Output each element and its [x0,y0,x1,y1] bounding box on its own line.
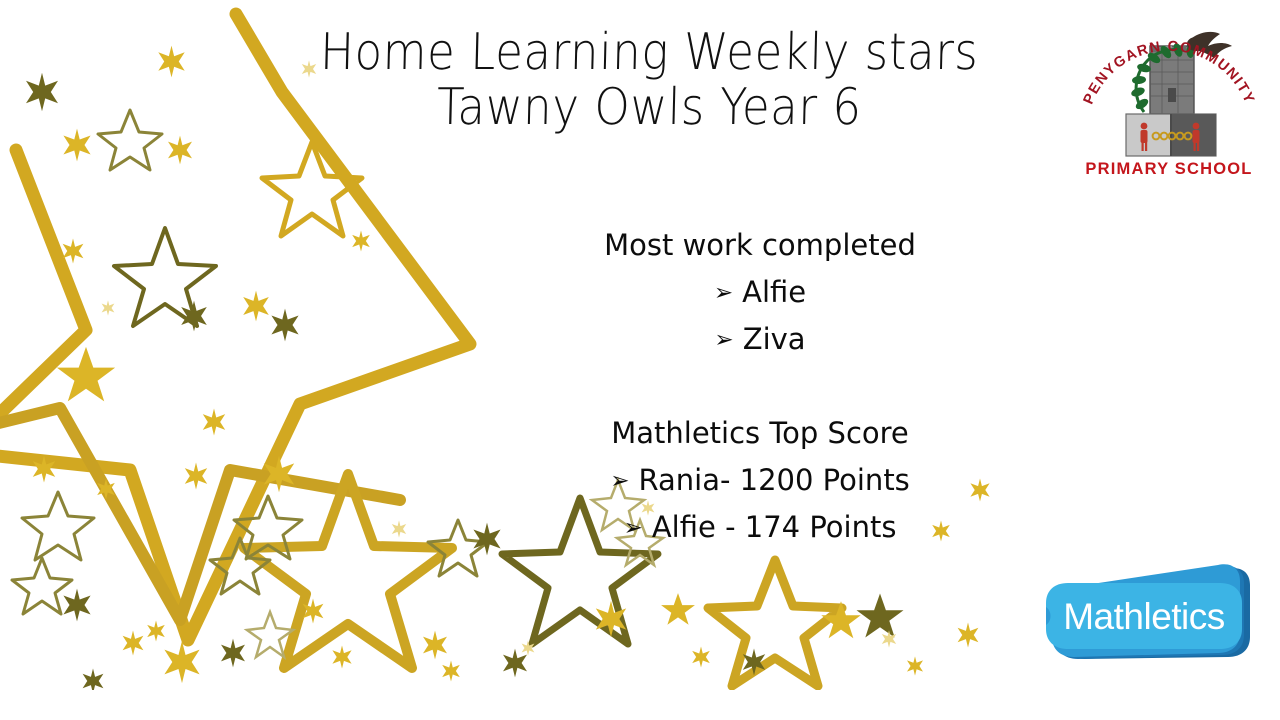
list-item: ➢Ziva [520,316,1000,363]
title-line-2: Tawny Owls Year 6 [249,77,1050,138]
medium-outline-star-a [114,228,216,326]
medium-outline-star-h [12,558,72,614]
list-item: ➢Alfie [520,269,1000,316]
section-heading-mathletics: Mathletics Top Score [520,410,1000,457]
mathletics-logo: Mathletics [1032,563,1264,671]
section-heading-most-work: Most work completed [520,222,1000,269]
list-item-label: Alfie [742,275,806,309]
big-outline-star-bottom-left [244,474,452,668]
section-gap [520,363,1000,410]
arrow-bullet-icon: ➢ [610,463,629,500]
slide-canvas: Home Learning Weekly stars Tawny Owls Ye… [0,0,1280,720]
arrow-bullet-icon: ➢ [624,510,643,547]
title-line-1: Home Learning Weekly stars [249,22,1050,83]
medium-outline-star-b [262,142,362,236]
penygarn-community-primary-school-logo: PENYGARN COMMUNITY PRIMARY SCHOOL [1074,8,1264,183]
big-outline-star-lower-left [0,408,400,620]
arrow-bullet-icon: ➢ [714,275,733,312]
medium-outline-star-d [234,496,302,559]
school-logo-bottom-text: PRIMARY SCHOOL [1085,160,1252,178]
list-item: ➢Rania- 1200 Points [520,457,1000,504]
section-mathletics-top-score: Mathletics Top Score ➢Rania- 1200 Points… [520,410,1000,551]
big-outline-star-right [708,560,842,686]
mathletics-wordmark: Mathletics [1063,596,1225,637]
open-book-icon [1126,114,1216,156]
list-item-label: Rania- 1200 Points [638,463,909,497]
list-item: ➢Alfie - 174 Points [520,504,1000,551]
medium-outline-star-f [98,110,162,170]
medium-outline-star-g [428,520,488,576]
section-most-work-completed: Most work completed ➢Alfie ➢Ziva [520,222,1000,363]
page-title: Home Learning Weekly stars Tawny Owls Ye… [250,22,1050,132]
medium-outline-star-c [22,492,94,560]
content-body: Most work completed ➢Alfie ➢Ziva Mathlet… [520,222,1000,551]
list-item-label: Alfie - 174 Points [652,510,897,544]
medium-outline-star-e [210,538,270,594]
list-item-label: Ziva [743,322,806,356]
arrow-bullet-icon: ➢ [714,322,733,359]
